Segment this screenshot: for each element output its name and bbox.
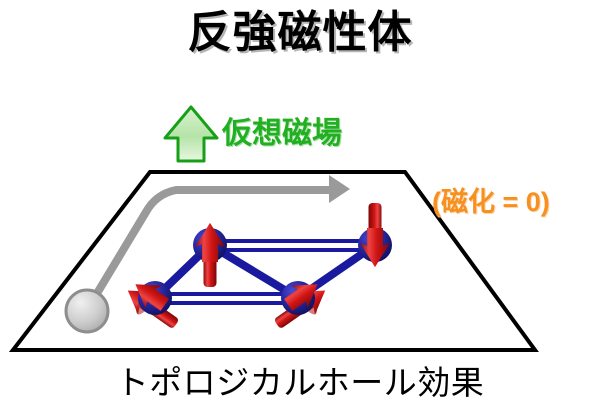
virtual-field-label: 仮想磁場 <box>222 108 342 152</box>
caption-topological-hall-effect: トポロジカルホール効果 <box>0 356 600 404</box>
magnetization-label: (磁化 = 0) <box>432 180 550 219</box>
diagram-canvas: 反強磁性体 <box>0 0 600 409</box>
up-arrow-icon <box>165 107 217 161</box>
electron-sphere-icon <box>66 290 108 332</box>
